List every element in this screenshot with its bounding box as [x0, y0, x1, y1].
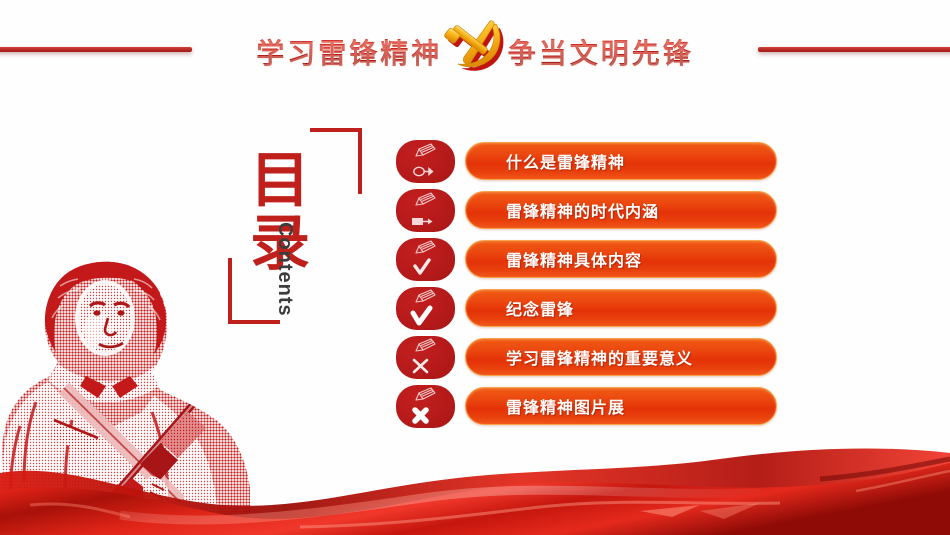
check-bold-icon	[413, 308, 430, 323]
header-rule-right	[758, 47, 950, 52]
check-icon	[415, 260, 429, 273]
menu-item-label: 学习雷锋精神的重要意义	[506, 345, 693, 369]
menu-item-label: 什么是雷锋精神	[506, 149, 625, 173]
pencil-icon	[416, 388, 435, 400]
menu-pill[interactable]: 雷锋精神具体内容	[465, 240, 777, 278]
menu-item-label: 雷锋精神的时代内涵	[506, 198, 659, 222]
pencil-icon	[416, 339, 435, 351]
bracket-corner-top-right	[310, 128, 362, 194]
cpc-hammer-sickle-emblem	[437, 16, 519, 82]
page-title-left: 学习雷锋精神	[256, 32, 442, 72]
menu-badge	[396, 140, 455, 183]
red-silk-ribbon	[0, 439, 950, 535]
pencil-icon	[416, 241, 435, 253]
menu-pill[interactable]: 雷锋精神的时代内涵	[465, 191, 777, 229]
pencil-icon	[416, 290, 435, 302]
menu-badge	[396, 287, 455, 330]
pencil-icon	[416, 144, 435, 156]
menu-item-label: 雷锋精神图片展	[506, 394, 625, 418]
header-rule-left	[0, 47, 192, 52]
page-title-right: 争当文明先锋	[508, 32, 694, 72]
menu-badge	[396, 189, 455, 232]
menu-pill[interactable]: 什么是雷锋精神	[465, 142, 777, 180]
menu-badge	[396, 385, 455, 428]
menu-pill[interactable]: 学习雷锋精神的重要意义	[465, 338, 777, 376]
cross-bold-icon	[415, 410, 426, 421]
menu-pill[interactable]: 纪念雷锋	[465, 289, 777, 327]
menu-badge	[396, 336, 455, 379]
flag-arrow-icon	[412, 218, 433, 225]
contents-heading-en: Contents	[273, 222, 296, 317]
ring-arrow-icon	[414, 167, 433, 175]
menu-item-label: 雷锋精神具体内容	[506, 247, 642, 271]
menu-item-label: 纪念雷锋	[506, 296, 574, 320]
menu-badge	[396, 238, 455, 281]
lei-feng-soldier-portrait	[2, 252, 250, 520]
menu-pill[interactable]: 雷锋精神图片展	[465, 387, 777, 425]
slide-canvas: 学习雷锋精神 争当文明先锋	[0, 0, 950, 535]
cross-icon	[414, 360, 427, 372]
pencil-icon	[416, 193, 435, 205]
